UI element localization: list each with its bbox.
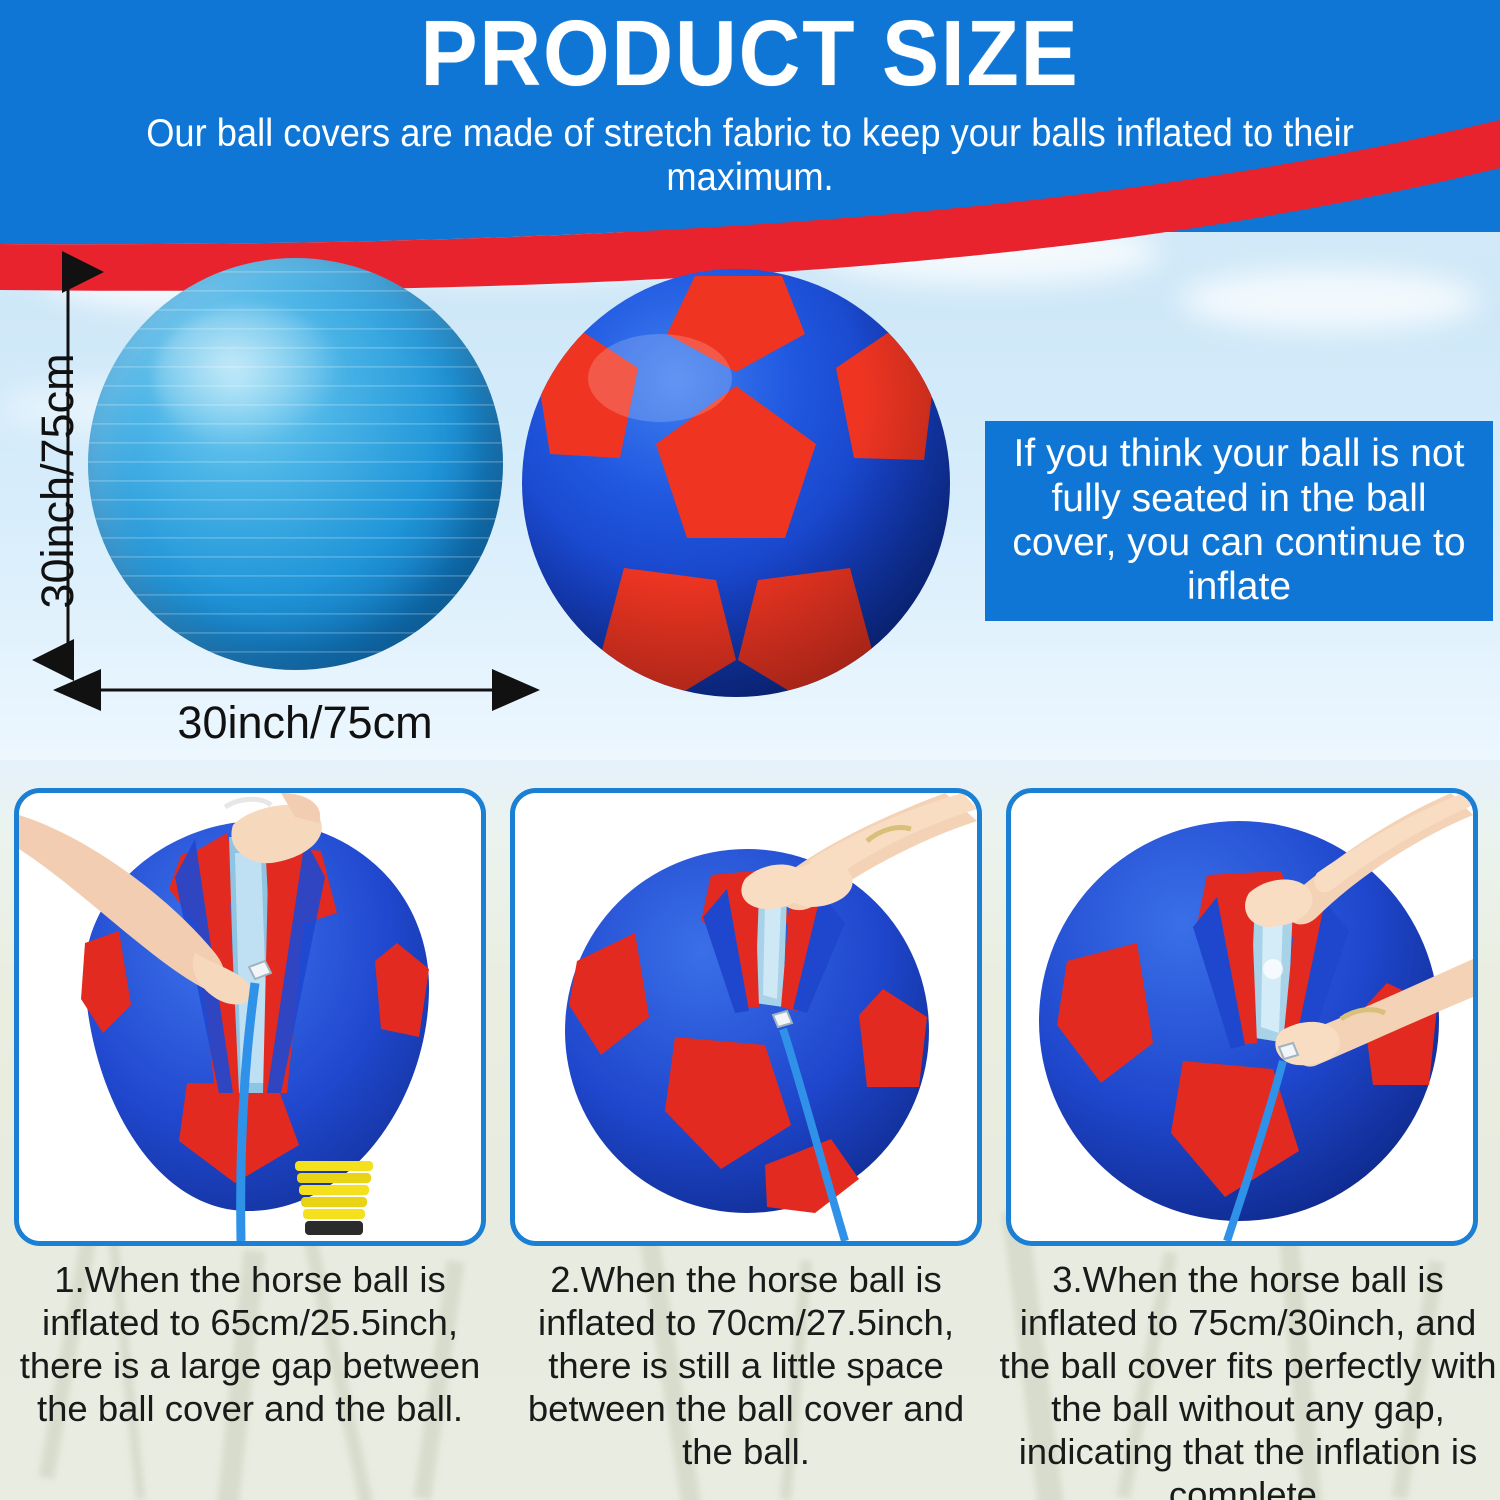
page-title: PRODUCT SIZE — [60, 6, 1440, 101]
header-subtitle: Our ball covers are made of stretch fabr… — [99, 112, 1401, 199]
product-size-infographic: 30inch/75cm 30inch/75cm If you think you… — [0, 0, 1500, 1500]
step-captions: 1.When the horse ball is inflated to 65c… — [0, 1258, 1500, 1500]
exercise-ball-image — [88, 258, 503, 670]
ball-cover-image — [520, 268, 952, 698]
instruction-panels — [0, 788, 1500, 1248]
header-banner: PRODUCT SIZE Our ball covers are made of… — [0, 0, 1500, 232]
step-caption-1: 1.When the horse ball is inflated to 65c… — [4, 1258, 496, 1430]
step-caption-2: 2.When the horse ball is inflated to 70c… — [500, 1258, 992, 1473]
step-photo-3 — [1006, 788, 1478, 1246]
inflate-note-text: If you think your ball is not fully seat… — [985, 432, 1493, 610]
width-dimension-label: 30inch/75cm — [90, 697, 520, 749]
step-photo-1 — [14, 788, 486, 1246]
step-photo-2 — [510, 788, 982, 1246]
height-dimension-label: 30inch/75cm — [32, 271, 84, 691]
step-caption-3: 3.When the horse ball is inflated to 75c… — [996, 1258, 1500, 1500]
inflate-note-box: If you think your ball is not fully seat… — [985, 421, 1493, 621]
